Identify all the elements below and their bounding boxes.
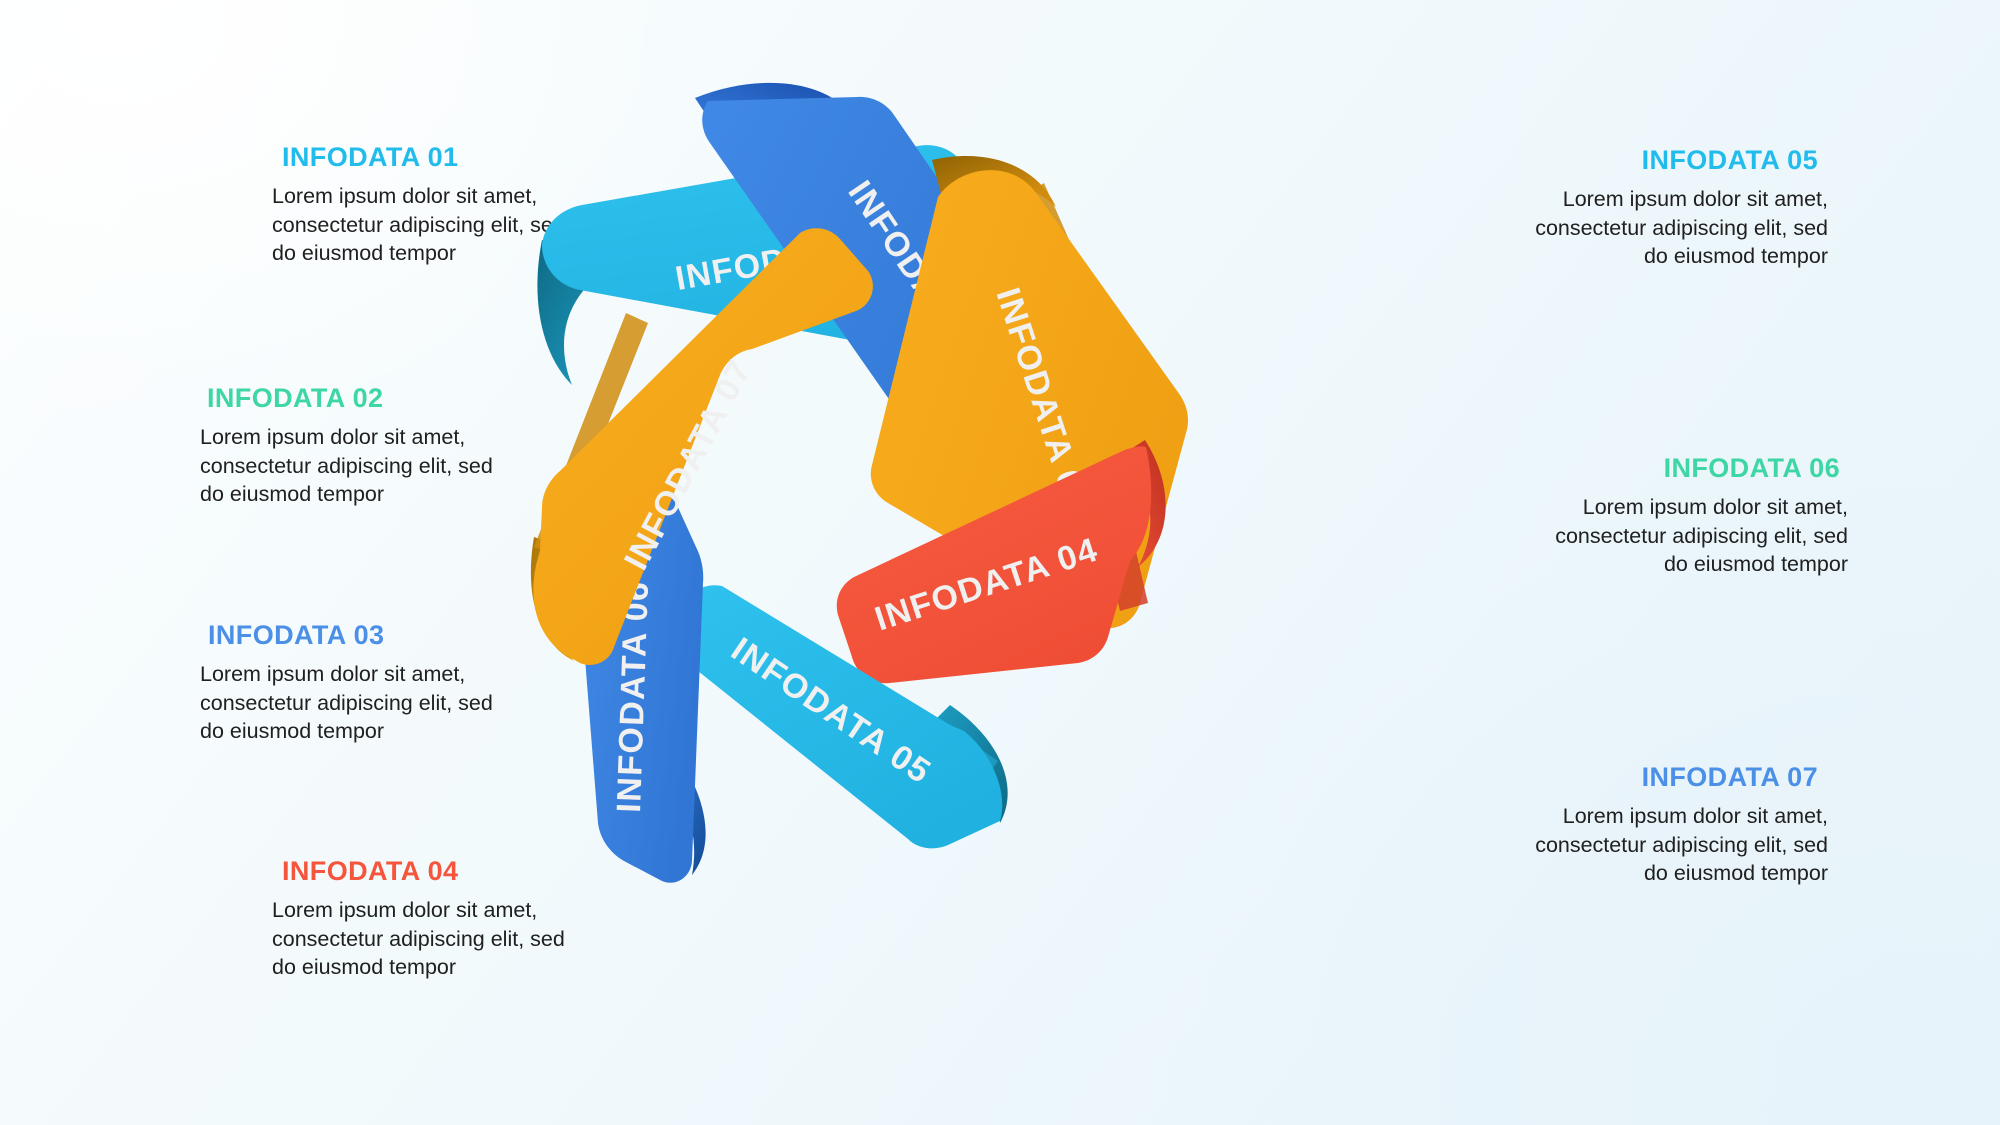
info-block-02: INFODATA 02 Lorem ipsum dolor sit amet, … [200, 383, 500, 509]
info-block-03: INFODATA 03 Lorem ipsum dolor sit amet, … [200, 620, 500, 746]
info-heading-03: INFODATA 03 [200, 620, 500, 651]
info-body-03: Lorem ipsum dolor sit amet, consectetur … [200, 660, 500, 746]
ribbon-wheel: INFODATA 01 INFODATA 02 INFODATA 03 [520, 55, 1520, 1075]
info-body-05: Lorem ipsum dolor sit amet, consectetur … [1528, 185, 1828, 271]
info-heading-02: INFODATA 02 [200, 383, 500, 414]
info-body-06: Lorem ipsum dolor sit amet, consectetur … [1548, 493, 1848, 579]
info-block-05: INFODATA 05 Lorem ipsum dolor sit amet, … [1528, 145, 1828, 271]
info-body-02: Lorem ipsum dolor sit amet, consectetur … [200, 423, 500, 509]
info-heading-07: INFODATA 07 [1528, 762, 1828, 793]
info-heading-06: INFODATA 06 [1548, 453, 1848, 484]
info-heading-05: INFODATA 05 [1528, 145, 1828, 176]
info-block-07: INFODATA 07 Lorem ipsum dolor sit amet, … [1528, 762, 1828, 888]
info-block-06: INFODATA 06 Lorem ipsum dolor sit amet, … [1548, 453, 1848, 579]
info-body-07: Lorem ipsum dolor sit amet, consectetur … [1528, 802, 1828, 888]
infographic-canvas: INFODATA 01 Lorem ipsum dolor sit amet, … [0, 0, 2000, 1125]
